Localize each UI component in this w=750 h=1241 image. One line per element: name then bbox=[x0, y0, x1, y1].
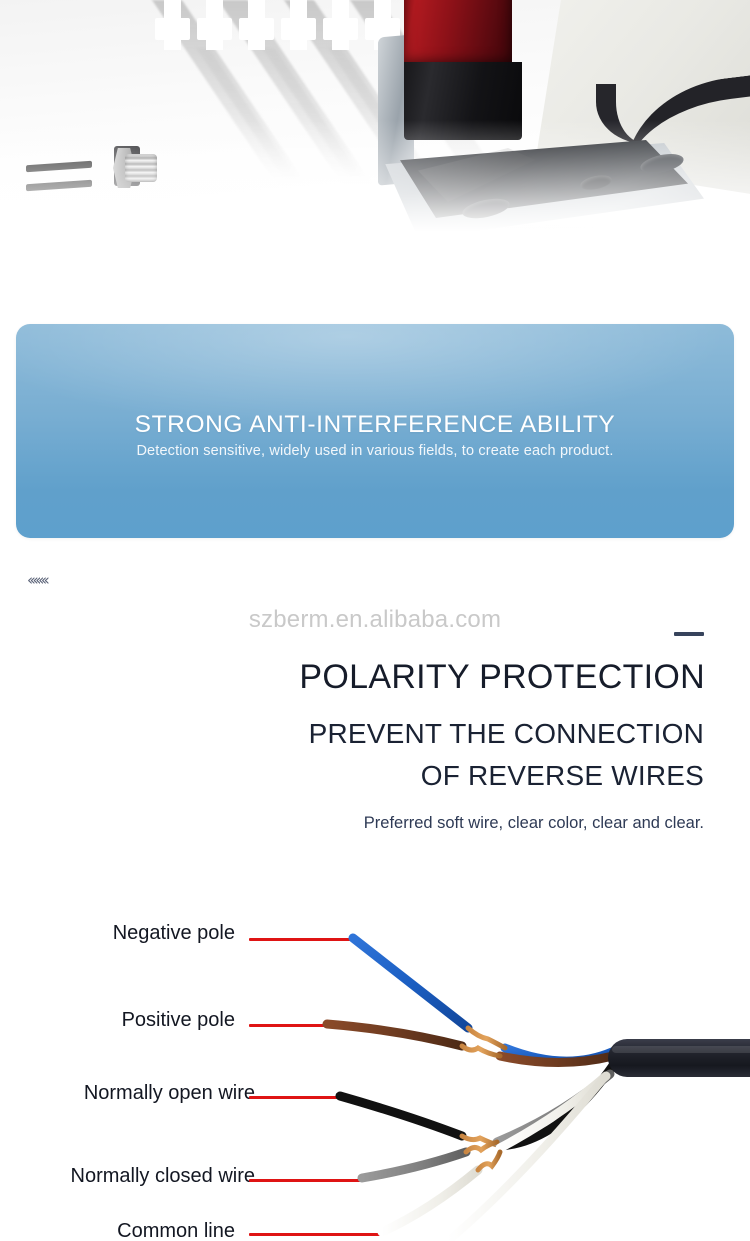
lead-text: Preferred soft wire, clear color, clear … bbox=[364, 814, 704, 833]
feature-banner: STRONG ANTI-INTERFERENCE ABILITY Detecti… bbox=[16, 324, 734, 538]
site-watermark: szberm.en.alibaba.com bbox=[0, 606, 750, 634]
subheading-line-2: OF REVERSE WIRES bbox=[421, 760, 704, 792]
product-detail-page: STRONG ANTI-INTERFERENCE ABILITY Detecti… bbox=[0, 0, 750, 1241]
wire-bundle-illustration bbox=[0, 880, 750, 1241]
banner-title: STRONG ANTI-INTERFERENCE ABILITY bbox=[16, 411, 734, 439]
subheading-line-1: PREVENT THE CONNECTION bbox=[309, 718, 704, 750]
sensor-body-icon bbox=[404, 0, 552, 140]
accent-dash bbox=[674, 632, 704, 636]
chevron-left-icon: ‹‹‹‹‹‹‹ bbox=[27, 571, 47, 589]
hero-bottom-fade bbox=[0, 120, 750, 300]
page-title: POLARITY PROTECTION bbox=[299, 658, 705, 697]
wire-diagram: Negative pole Positive pole Normally ope… bbox=[0, 880, 750, 1241]
banner-subtitle: Detection sensitive, widely used in vari… bbox=[16, 443, 734, 459]
hero-product-photo bbox=[0, 0, 750, 300]
